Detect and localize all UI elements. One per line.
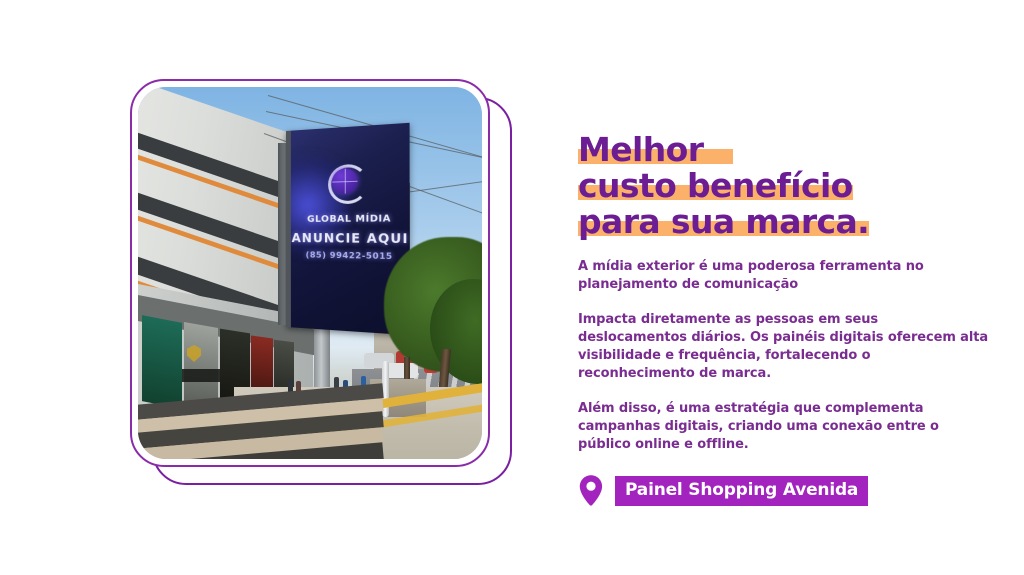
storefront-sign (182, 369, 220, 382)
photo-block: GLOBAL MÍDIA ANUNCIE AQUI (85) 99422-501… (130, 79, 515, 489)
global-midia-logo-icon (328, 164, 368, 205)
text-column: Melhor custo benefício para sua marca. A… (578, 132, 988, 454)
headline-line-3-text: para sua marca. (578, 202, 869, 241)
headline-line-2-text: custo benefício (578, 166, 853, 205)
billboard-photo: GLOBAL MÍDIA ANUNCIE AQUI (85) 99422-501… (138, 87, 482, 459)
body-paragraph-1: A mídia exterior é uma poderosa ferramen… (578, 258, 988, 294)
billboard-brand: GLOBAL MÍDIA (291, 214, 410, 225)
photo-frame: GLOBAL MÍDIA ANUNCIE AQUI (85) 99422-501… (130, 79, 490, 467)
body-copy: A mídia exterior é uma poderosa ferramen… (578, 258, 988, 454)
slide-canvas: GLOBAL MÍDIA ANUNCIE AQUI (85) 99422-501… (0, 0, 1024, 575)
map-pin-icon (578, 474, 604, 507)
car (384, 363, 418, 378)
headline-line-2: custo benefício (578, 168, 853, 204)
headline-line-1-text: Melhor (578, 130, 703, 169)
location-badge: Painel Shopping Avenida (615, 476, 868, 506)
billboard-glow (286, 143, 348, 266)
billboard-call-to-action: ANUNCIE AQUI (291, 231, 410, 246)
headline-line-1: Melhor (578, 132, 703, 168)
body-paragraph-2: Impacta diretamente as pessoas em seus d… (578, 311, 988, 383)
body-paragraph-3: Além disso, é uma estratégia que complem… (578, 400, 988, 454)
headline-line-3: para sua marca. (578, 204, 869, 240)
page-title: Melhor custo benefício para sua marca. (578, 132, 988, 240)
entrance-steps (138, 387, 384, 459)
location-callout: Painel Shopping Avenida (578, 474, 868, 507)
